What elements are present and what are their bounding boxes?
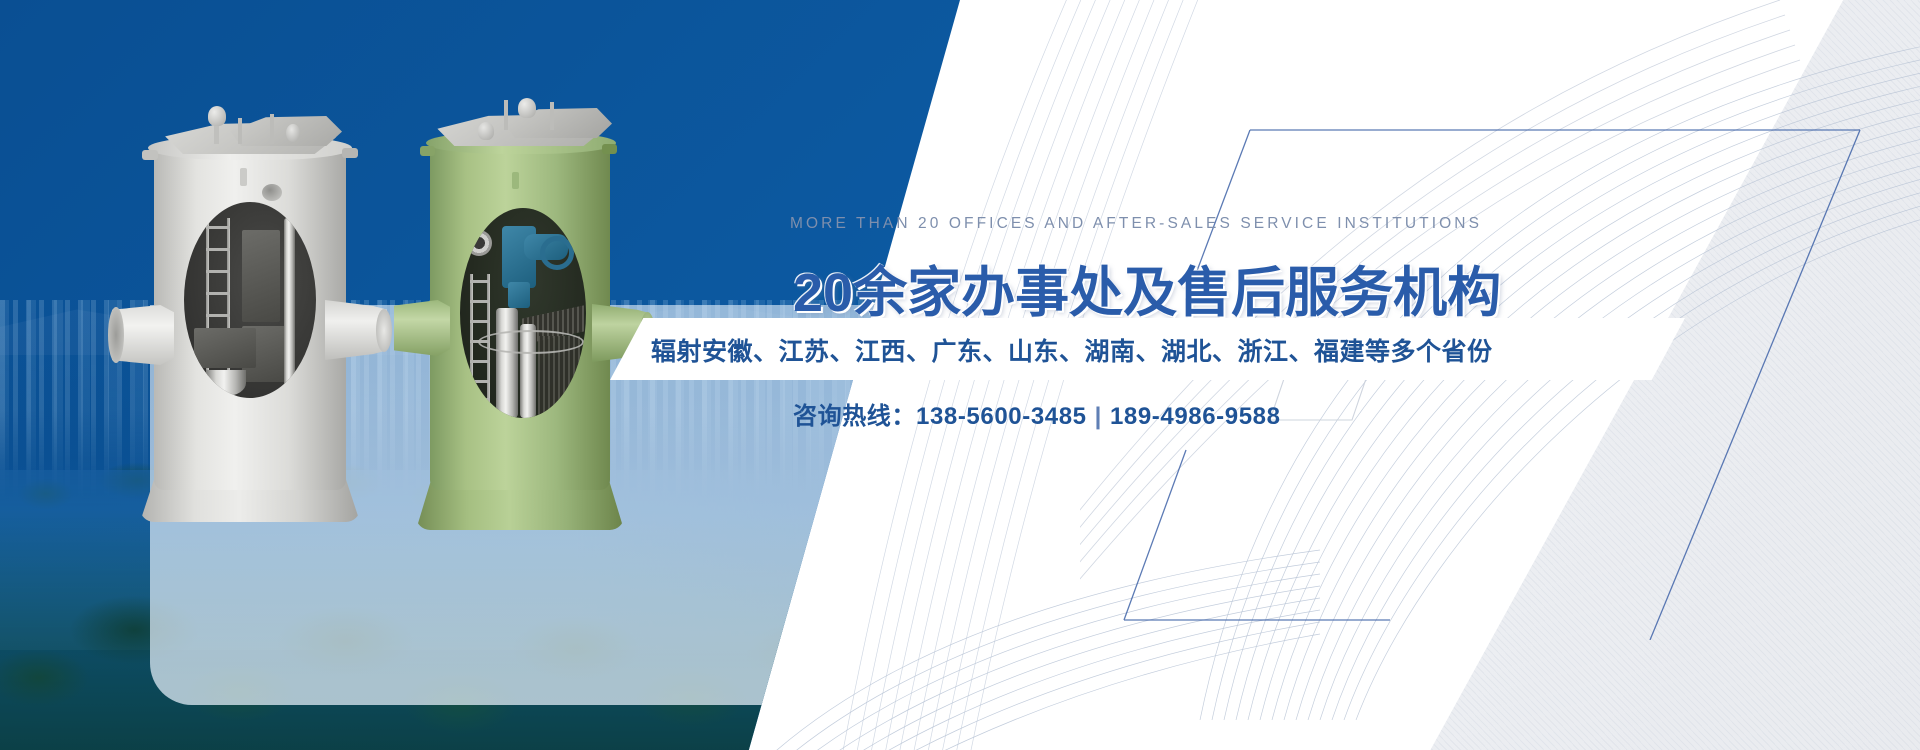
english-tagline: MORE THAN 20 OFFICES AND AFTER-SALES SER… (790, 215, 1430, 233)
green-unit-stainless-cylinder (496, 308, 518, 418)
gray-unit-internal-column (284, 218, 295, 388)
green-unit-pin-2 (550, 102, 554, 130)
gray-unit-outlet-flange (376, 309, 392, 352)
green-unit-valve-riser (508, 282, 530, 308)
hotline-row: 咨询热线：138-5600-3485|189-4986-9588 (793, 396, 1281, 431)
gray-unit-baseplate (194, 328, 256, 368)
gray-unit-side-nozzle (262, 184, 282, 201)
gray-unit-pin-3 (286, 124, 300, 142)
gray-unit-pin-1 (238, 118, 242, 144)
gray-unit-cutaway-view (184, 202, 316, 398)
hotline-label: 咨询热线： (793, 403, 916, 430)
green-unit-guard-ring (478, 330, 584, 354)
green-unit-lifting-lug-left (420, 146, 435, 156)
gray-unit-inlet-flange (108, 307, 124, 363)
hotline-primary-number[interactable]: 138-5600-3485 (916, 403, 1087, 430)
gray-unit-vent-cap (208, 106, 226, 126)
gray-unit-tab (240, 168, 247, 186)
green-unit-cutaway-view (460, 208, 586, 418)
hotline-secondary-number[interactable]: 189-4986-9588 (1110, 403, 1281, 430)
green-unit-vent-cap (518, 98, 536, 118)
green-unit-valve-handwheel (540, 236, 574, 270)
green-unit-pin-1 (504, 100, 508, 130)
parallelogram-outline-decoration (1090, 120, 1890, 640)
gray-unit-sump-bowl (206, 370, 246, 396)
green-unit-vent-cap-secondary (478, 122, 494, 140)
product-gray-pump-station (120, 110, 380, 520)
product-green-pump-station (400, 100, 650, 530)
gray-unit-internal-panel-a (242, 230, 280, 322)
subtitle-text: 辐射安徽、江苏、江西、广东、山东、湖南、湖北、浙江、福建等多个省份 (651, 332, 1493, 368)
green-unit-tab (512, 172, 519, 189)
gray-unit-lifting-lug-left (142, 150, 158, 160)
main-headline: 20余家办事处及售后服务机构 (793, 248, 1501, 327)
green-unit-lifting-lug-right (602, 144, 617, 154)
green-unit-inlet-pipe (394, 300, 450, 356)
green-unit-internal-flange (466, 230, 492, 256)
promotional-banner: MORE THAN 20 OFFICES AND AFTER-SALES SER… (0, 0, 1920, 750)
gray-unit-lifting-lug-right (342, 148, 358, 158)
hotline-separator: | (1087, 403, 1110, 430)
gray-unit-pin-2 (270, 114, 274, 144)
